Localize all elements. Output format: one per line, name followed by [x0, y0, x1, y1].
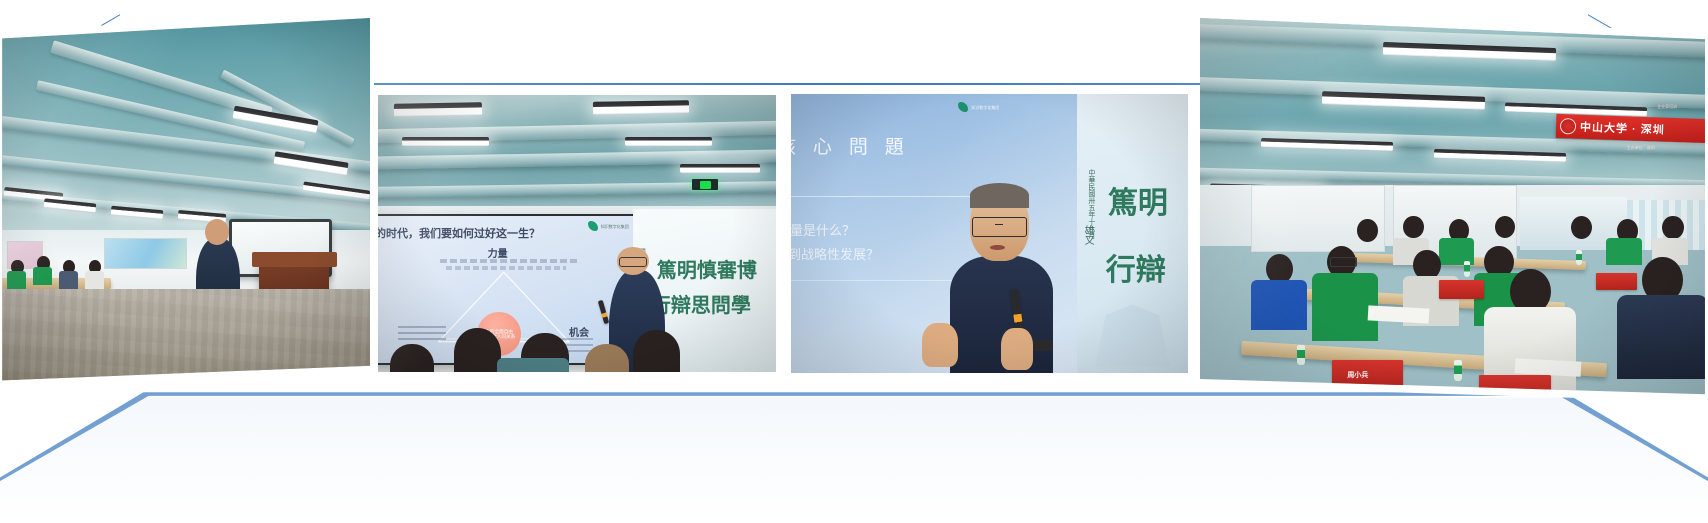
exit-sign-icon [692, 179, 718, 190]
banner-title: 中山大学 · 深圳 [1579, 118, 1664, 137]
panel-2-photo[interactable]: 知识数字化集团 …的时代，我们要如何过好这一生？ 力量 人的全面自由 与健全人间… [378, 95, 776, 372]
brand-mark-icon: 知识数字化集团 [958, 102, 999, 112]
panel-1-frame[interactable]: Wide view of a teal-ceilinged classroom,… [0, 10, 374, 392]
slide-section-top: 力量 [488, 245, 508, 260]
photo-gallery-stage: Wide view of a teal-ceilinged classroom,… [0, 0, 1708, 523]
water-bottle [1576, 250, 1582, 265]
water-bottle [1454, 360, 1462, 381]
panel-1-photo[interactable]: Wide view of a teal-ceilinged classroom,… [0, 18, 370, 384]
banner-sub-right: 主办单位：深圳 [1627, 145, 1655, 151]
calligraphy-line-2: 行辯思問學 [651, 289, 751, 318]
brand-mark-icon: 知识数字化集团 [588, 221, 629, 231]
attendee-shirt-blue [1251, 280, 1307, 329]
student-green-shirt [7, 271, 26, 289]
student-shirt [85, 271, 104, 289]
speaker-glasses [619, 257, 647, 267]
slide-section-bottom: 机会 [569, 324, 589, 339]
panel-1-scene [0, 18, 370, 384]
attendee-head [1403, 216, 1423, 239]
projection-screen: 知识数字化集团 …的时代，我们要如何过好这一生？ 力量 人的全面自由 与健全人间… [378, 214, 637, 365]
slide-headline: 核 心 問 題 [791, 132, 910, 159]
speaker-glasses-bridge [995, 224, 1003, 226]
slide-headline: …的时代，我们要如何过好这一生？ [378, 225, 540, 241]
slide-bullet-2: …到战略性发展？ [791, 244, 879, 263]
banner-sub-left: 企业家培训 [1657, 104, 1677, 110]
attendee-head [1662, 216, 1683, 240]
name-card [1479, 375, 1550, 398]
floor [0, 289, 370, 384]
notebook [1367, 305, 1429, 323]
audience-head [454, 328, 502, 372]
panel-4-scene: 中山大学 · 深圳 企业家培训 主办单位：深圳 [1200, 18, 1708, 398]
ceiling-light [394, 103, 482, 118]
slide-footnote [398, 326, 445, 344]
audience-head [585, 344, 629, 372]
panel-2-scene: 知识数字化集团 …的时代，我们要如何过好这一生？ 力量 人的全面自由 与健全人间… [378, 95, 776, 372]
calligraphy-signature: 雄又 [1080, 225, 1095, 245]
calligraphy-board: 篤明 行辯 中華民國卅五年十六月 雄又 [1077, 94, 1188, 373]
attendee-glasses [1330, 257, 1357, 267]
wall-poster [104, 238, 187, 269]
panel-4-photo[interactable]: 中山大学 · 深圳 企业家培训 主办单位：深圳 [1200, 18, 1708, 398]
slide-logo-text: 知识数字化集团 [971, 105, 999, 110]
panel-3-photo[interactable]: 知识数字化集团 核 心 問 題 …量是什么？ …到战略性发展？ 篤明 行辯 中華… [791, 94, 1188, 373]
ceiling-light [625, 137, 713, 146]
name-card [1439, 280, 1485, 299]
calligraphy-line-1: 篤明 [1108, 178, 1168, 222]
calligraphy-line-2: 行辯 [1106, 245, 1166, 289]
attendee-head [1495, 216, 1515, 239]
student-shirt [59, 271, 78, 289]
slide-logo-text: 知识数字化集团 [601, 224, 629, 229]
panel-3-scene: 知识数字化集团 核 心 問 題 …量是什么？ …到战略性发展？ 篤明 行辯 中華… [791, 94, 1188, 373]
audience-head [633, 330, 681, 372]
slide-bullet-1: …量是什么？ [791, 220, 855, 239]
panel-4-frame[interactable]: 中山大学 · 深圳 企业家培训 主办单位：深圳 [1200, 10, 1708, 406]
podium-top [252, 252, 337, 267]
floor-texture [0, 289, 370, 384]
slide-caption-line [440, 259, 577, 263]
student-green-shirt [33, 267, 52, 285]
calligraphy-line-1: 篤明慎審博 [657, 254, 757, 283]
attendee-shirt-navy [1617, 295, 1708, 379]
name-card-label: 周小兵 [1347, 370, 1368, 380]
attendee-head [1571, 216, 1592, 240]
ceiling-light [593, 100, 689, 115]
ceiling-light [680, 164, 760, 173]
speaker-hand [1001, 328, 1033, 370]
water-bottle [1297, 345, 1305, 365]
speaker-glasses [972, 217, 1028, 237]
speaker-watch [1033, 340, 1053, 351]
speaker-hair [970, 183, 1030, 208]
name-card [1596, 273, 1637, 290]
attendee-shirt-green [1606, 238, 1642, 265]
university-seal-icon [1559, 118, 1576, 135]
speaker-hand [922, 323, 958, 368]
ceiling-light [402, 137, 490, 146]
audience-shoulder [497, 358, 569, 372]
water-bottle [1464, 261, 1470, 277]
attendee-head [1357, 219, 1377, 242]
calligraphy-building-motif [1088, 300, 1177, 367]
